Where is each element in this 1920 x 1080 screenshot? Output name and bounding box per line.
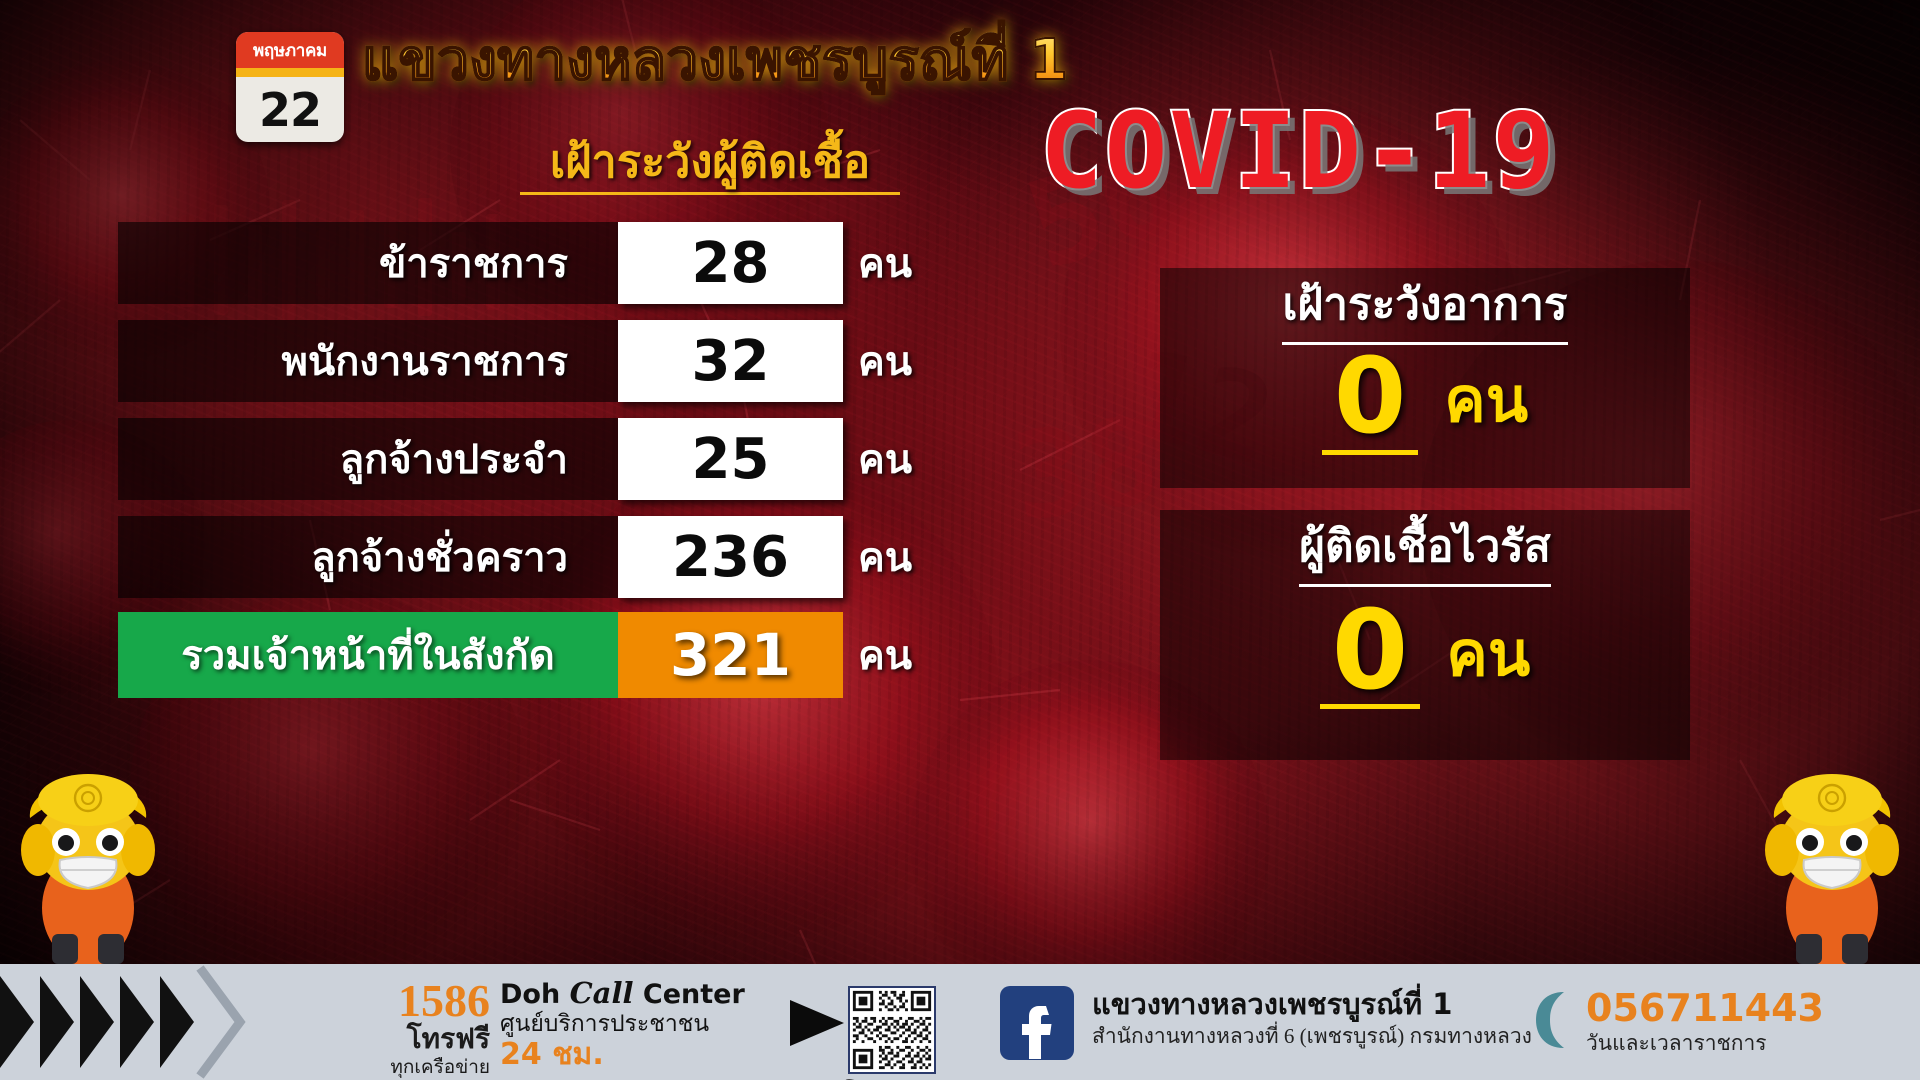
row-unit: คน [858,516,912,598]
watch-panel-value: 0 [1322,346,1418,455]
infected-panel-title: ผู้ติดเชื้อไวรัส [1160,520,1690,578]
row-label: ลูกจ้างประจำ [118,418,618,500]
watch-panel-body: 0 คน [1160,340,1690,460]
footer-bar: 1586 โทรฟรี ทุกเครือข่าย Doh Call Center… [0,964,1920,1080]
scan-me-label: Scan me [840,1076,944,1080]
doh-service-center-label: ศูนย์บริการประชาชน [500,1010,745,1038]
phone-icon [1530,988,1572,1052]
calendar-day: 22 [236,77,344,142]
phone-number: 056711443 [1586,986,1824,1030]
doh-call-center-block: Doh Call Center ศูนย์บริการประชาชน 24 ชม… [500,978,745,1072]
watch-panel-title: เฝ้าระวังอาการ [1160,278,1690,336]
infected-panel-body: 0 คน [1160,594,1690,714]
row-value: 25 [618,418,843,500]
total-value: 321 [618,612,843,698]
row-value: 28 [618,222,843,304]
infected-panel-value: 0 [1320,600,1421,709]
facebook-glyph [1000,986,1074,1060]
watch-panel-title-text: เฝ้าระวังอาการ [1282,269,1567,345]
row-value: 32 [618,320,843,402]
total-unit: คน [858,612,912,698]
doh-word-doh: Doh [500,979,570,1010]
page-title: แขวงทางหลวงเพชรบูรณ์ที่ 1 [362,26,1492,98]
qr-code-icon [848,986,936,1074]
chevron-decoration [0,964,252,1080]
total-label: รวมเจ้าหน้าที่ในสังกัด [118,612,618,698]
phone-hours-note: วันและเวลาราชการ [1586,1030,1824,1056]
doh-word-center: Center [634,979,745,1010]
page-subtitle: เฝ้าระวังผู้ติดเชื้อ [520,133,900,195]
infected-panel: ผู้ติดเชื้อไวรัส 0 คน [1160,510,1690,760]
doh-call-center-title: Doh Call Center [500,978,745,1010]
infected-panel-unit: คน [1446,605,1530,703]
table-row: ลูกจ้างชั่วคราว 236 คน [118,516,958,598]
covid-report-poster: 56 12 38 พฤษภาคม 22 แขวงทางหลวงเพชรบูรณ์… [0,0,1920,1080]
facebook-page-subtitle: สำนักงานทางหลวงที่ 6 (เพชรบูรณ์) กรมทางห… [1092,1022,1532,1050]
facebook-page-block[interactable]: แขวงทางหลวงเพชรบูรณ์ที่ 1 สำนักงานทางหลว… [1092,986,1532,1050]
hotline-block: 1586 โทรฟรี ทุกเครือข่าย [360,978,490,1080]
row-label: ลูกจ้างชั่วคราว [118,516,618,598]
calendar-month: พฤษภาคม [236,32,344,68]
calendar-icon: พฤษภาคม 22 [236,32,344,142]
watch-panel-unit: คน [1444,351,1528,449]
phone-block: 056711443 วันและเวลาราชการ [1586,986,1824,1056]
calendar-divider [236,68,344,77]
table-row: พนักงานราชการ 32 คน [118,320,958,402]
row-unit: คน [858,320,912,402]
row-unit: คน [858,222,912,304]
doh-word-call: Call [570,976,634,1010]
mascot-elephant-left [8,758,168,968]
covid-heading: COVID-19 [1040,92,1880,212]
hotline-free-label: โทรฟรี [360,1024,490,1056]
row-value: 236 [618,516,843,598]
row-label: ข้าราชการ [118,222,618,304]
mascot-elephant-right [1752,758,1912,968]
facebook-icon[interactable] [1000,986,1074,1060]
table-row: ข้าราชการ 28 คน [118,222,958,304]
row-label: พนักงานราชการ [118,320,618,402]
watch-panel: เฝ้าระวังอาการ 0 คน [1160,268,1690,488]
infected-panel-title-text: ผู้ติดเชื้อไวรัส [1299,511,1551,587]
hotline-network-label: ทุกเครือข่าย [360,1056,490,1080]
total-row: รวมเจ้าหน้าที่ในสังกัด 321 คน [118,612,958,698]
hotline-number: 1586 [360,978,490,1024]
play-arrow-icon [790,1000,844,1046]
facebook-page-name: แขวงทางหลวงเพชรบูรณ์ที่ 1 [1092,986,1532,1022]
table-row: ลูกจ้างประจำ 25 คน [118,418,958,500]
doh-hours-label: 24 ชม. [500,1038,745,1072]
row-unit: คน [858,418,912,500]
